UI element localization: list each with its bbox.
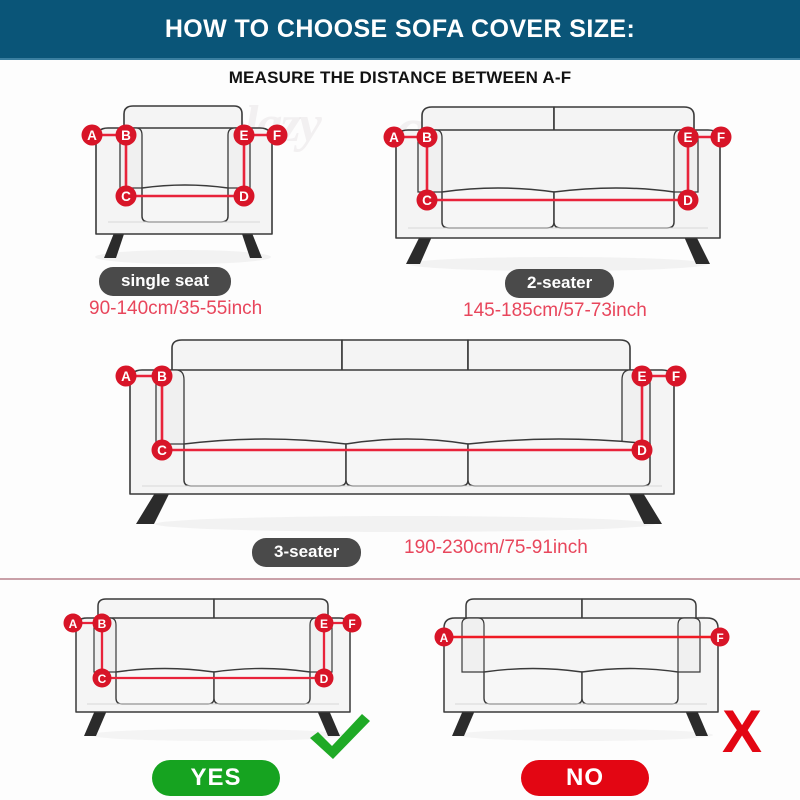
svg-text:A: A: [87, 128, 97, 143]
svg-text:D: D: [239, 189, 249, 204]
check-mark-icon: [306, 712, 372, 767]
svg-text:C: C: [98, 672, 107, 686]
svg-text:F: F: [348, 617, 355, 631]
svg-text:B: B: [98, 617, 107, 631]
incorrect-example-figure: A F: [430, 592, 740, 742]
svg-text:C: C: [422, 193, 432, 208]
page-title: HOW TO CHOOSE SOFA COVER SIZE:: [165, 15, 635, 44]
svg-text:A: A: [121, 369, 131, 384]
svg-text:F: F: [716, 631, 723, 645]
svg-text:D: D: [320, 672, 329, 686]
svg-text:F: F: [273, 128, 281, 143]
section-divider: [0, 578, 800, 580]
three-seater-dimension: 190-230cm/75-91inch: [404, 537, 588, 559]
svg-text:B: B: [422, 130, 432, 145]
two-seater-figure: A B C D E F: [382, 92, 734, 272]
subtitle: MEASURE THE DISTANCE BETWEEN A-F: [0, 68, 800, 88]
svg-text:C: C: [121, 189, 131, 204]
svg-text:E: E: [239, 128, 248, 143]
three-seater-figure: A B C D E F: [110, 332, 700, 532]
two-seater-label: 2-seater: [505, 269, 614, 298]
svg-text:F: F: [717, 130, 725, 145]
header-bar: HOW TO CHOOSE SOFA COVER SIZE:: [0, 0, 800, 58]
svg-text:C: C: [157, 443, 167, 458]
two-seater-dimension: 145-185cm/57-73inch: [463, 300, 647, 322]
svg-text:F: F: [672, 369, 680, 384]
svg-text:D: D: [637, 443, 647, 458]
svg-text:E: E: [683, 130, 692, 145]
single-seat-dimension: 90-140cm/35-55inch: [89, 298, 262, 320]
x-mark-icon: X: [722, 702, 762, 762]
svg-text:E: E: [637, 369, 646, 384]
svg-text:E: E: [320, 617, 328, 631]
verdict-badge-no: NO: [521, 760, 649, 796]
svg-text:A: A: [69, 617, 78, 631]
svg-text:D: D: [683, 193, 693, 208]
single-seat-label: single seat: [99, 267, 231, 296]
single-seat-figure: A B C D E F: [78, 92, 293, 267]
svg-text:A: A: [440, 631, 449, 645]
verdict-badge-yes: YES: [152, 760, 280, 796]
sofa-size-guide-page: HOW TO CHOOSE SOFA COVER SIZE: MEASURE T…: [0, 0, 800, 800]
svg-text:B: B: [157, 369, 167, 384]
svg-text:A: A: [389, 130, 399, 145]
header-underline: [0, 58, 800, 60]
svg-text:B: B: [121, 128, 131, 143]
three-seater-label: 3-seater: [252, 538, 361, 567]
